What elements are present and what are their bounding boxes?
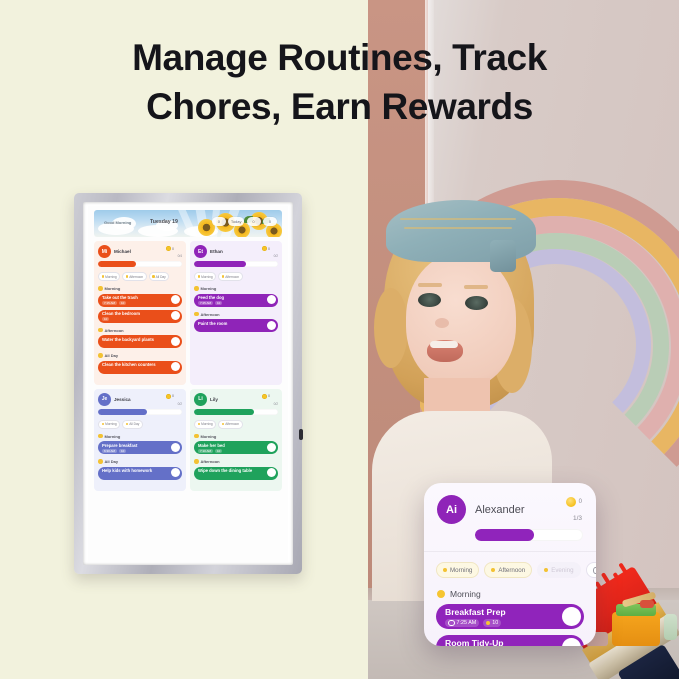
coin-balance: 0 — [566, 497, 582, 507]
task-toggle[interactable] — [171, 311, 180, 320]
task-progress-fraction: 0/2 — [178, 402, 182, 406]
filter-chip-all-day[interactable]: All Day — [122, 420, 143, 429]
filter-chip-morning[interactable]: Morning — [194, 272, 216, 281]
task-toggle[interactable] — [267, 295, 276, 304]
tablet-device: Good Morning Tuesday 19 0 Today 0 0 MiMi… — [74, 193, 302, 574]
filter-chip-afternoon[interactable]: Afternoon — [218, 420, 242, 429]
task-points: 10 — [215, 449, 222, 453]
coin-count: 0 — [268, 394, 270, 398]
filter-chip-evening[interactable]: Evening — [537, 562, 580, 578]
task-row[interactable]: Wipe down the dining table — [194, 467, 278, 480]
task-toggle[interactable] — [267, 443, 276, 452]
section-icon — [98, 459, 103, 464]
filter-chip-afternoon[interactable]: Afternoon — [484, 562, 532, 578]
chip-icon — [126, 423, 129, 426]
section-header: All Day — [98, 459, 182, 464]
task-points: 10 — [119, 449, 126, 453]
member-name: Ethan — [210, 249, 223, 254]
member-card-grid: MiMichael00/4MorningAfternoonAll DayMorn… — [94, 241, 282, 491]
avatar[interactable]: Li — [194, 393, 207, 406]
section-icon — [98, 353, 103, 358]
tablet-power-button[interactable] — [299, 429, 303, 440]
task-meta: 7:15 AM10 — [102, 301, 178, 305]
chip-icon — [222, 423, 225, 426]
filter-chip-afternoon[interactable]: Afternoon — [218, 272, 242, 281]
child-face — [406, 253, 516, 388]
task-title: Room Tidy-Up — [445, 638, 575, 646]
section-label: All Day — [105, 459, 119, 464]
chip-icon — [102, 423, 105, 426]
coin-icon — [566, 497, 576, 507]
toy-green-bottle — [664, 614, 677, 640]
member-name: Jessica — [114, 397, 131, 402]
progress-bar — [475, 529, 583, 541]
section-header-morning: Morning — [424, 578, 596, 604]
filter-chip-morning[interactable]: Morning — [194, 420, 216, 429]
section-label: Morning — [201, 434, 217, 439]
section-icon — [98, 434, 103, 439]
coin-count: 0 — [172, 394, 174, 398]
coin-icon — [262, 246, 267, 251]
task-toggle[interactable] — [267, 321, 276, 330]
banner-control-today[interactable]: Today — [228, 217, 244, 226]
task-list: Breakfast Prep7:25 AM10Room Tidy-Up10 — [424, 604, 596, 646]
chip-icon — [222, 275, 225, 278]
banner-control-0[interactable]: 0 — [212, 217, 226, 226]
task-meta: 7:10 AM10 — [198, 449, 274, 453]
section-icon — [98, 286, 103, 291]
task-title: Clean the kitchen counters — [102, 362, 178, 367]
child-eye — [418, 293, 441, 307]
member-card[interactable]: JeJessica00/2MorningAll DayMorningPrepar… — [94, 389, 186, 491]
chip-icon — [544, 568, 548, 572]
task-row[interactable]: Breakfast Prep7:25 AM10 — [436, 604, 584, 629]
toy-red-block — [640, 600, 654, 608]
section-label: Morning — [105, 286, 121, 291]
section-header: Morning — [98, 434, 182, 439]
member-name: Alexander — [475, 504, 525, 516]
task-meta: 10 — [102, 317, 178, 321]
sun-icon — [437, 590, 445, 598]
section-header: Afternoon — [194, 312, 278, 317]
section-icon — [98, 328, 103, 333]
chip-icon — [491, 568, 495, 572]
filter-chip-morning[interactable]: Morning — [436, 562, 479, 578]
filter-chip-label: Afternoon — [498, 567, 525, 574]
check-icon — [593, 567, 596, 574]
task-row[interactable]: Room Tidy-Up10 — [436, 635, 584, 646]
section-label: Morning — [201, 286, 217, 291]
child-teeth — [430, 341, 458, 348]
member-card[interactable]: EtEthan00/2MorningAfternoonMorningFeed t… — [190, 241, 282, 385]
chip-icon — [443, 568, 447, 572]
task-row[interactable]: Take out the trash7:15 AM10 — [98, 294, 182, 307]
section-header: Morning — [194, 286, 278, 291]
task-row[interactable]: Feed the dog7:25 AM10 — [194, 294, 278, 307]
banner-date: Tuesday 19 — [150, 219, 178, 225]
time-filter-chips[interactable]: MorningAll Day — [98, 420, 182, 429]
task-row[interactable]: Prepare breakfast6:30 AM10 — [98, 441, 182, 454]
section-header: Afternoon — [98, 328, 182, 333]
clock-icon — [448, 620, 455, 627]
child-headband-tab — [490, 240, 516, 272]
task-time: 7:10 AM — [198, 449, 213, 453]
task-row[interactable]: Help kids with homework — [98, 467, 182, 480]
task-points: 10 — [483, 619, 501, 627]
task-row[interactable]: Clean the kitchen counters — [98, 361, 182, 374]
time-filter-chips[interactable]: MorningAfternoonAll Day — [98, 272, 182, 281]
child-eye — [465, 296, 488, 310]
coin-balance: 0 — [262, 394, 270, 399]
member-card[interactable]: LiLily00/2MorningAfternoonMorningMake he… — [190, 389, 282, 491]
section-label: Afternoon — [105, 328, 124, 333]
progress-bar — [98, 261, 182, 267]
task-title: Prepare breakfast — [102, 443, 178, 448]
member-name: Lily — [210, 397, 218, 402]
task-title: Clean the bedroom — [102, 311, 178, 316]
coin-icon — [486, 621, 490, 625]
section-label: Afternoon — [201, 459, 220, 464]
chip-icon — [198, 423, 201, 426]
coin-count: 0 — [268, 247, 270, 251]
task-progress-fraction: 0/2 — [274, 402, 278, 406]
task-row[interactable]: Clean the bedroom10 — [98, 310, 182, 323]
task-points: 10 — [119, 301, 126, 305]
task-toggle[interactable] — [562, 607, 581, 626]
dashboard-banner: Good Morning Tuesday 19 0 Today 0 0 — [94, 210, 282, 237]
task-toggle[interactable] — [562, 638, 581, 646]
task-title: Feed the dog — [198, 295, 274, 300]
task-title: Help kids with homework — [102, 468, 178, 473]
progress-bar — [98, 409, 182, 415]
time-filter-chips[interactable]: MorningAfternoon — [194, 420, 278, 429]
section-icon — [194, 459, 199, 464]
progress-bar — [194, 409, 278, 415]
task-title: Breakfast Prep — [445, 607, 575, 618]
task-meta: 7:25 AM10 — [445, 619, 575, 627]
avatar[interactable]: Mi — [98, 245, 111, 258]
member-name: Michael — [114, 249, 131, 254]
task-meta: 7:25 AM10 — [198, 301, 274, 305]
section-header: All Day — [98, 353, 182, 358]
member-card[interactable]: MiMichael00/4MorningAfternoonAll DayMorn… — [94, 241, 186, 385]
task-title: Make her bed — [198, 443, 274, 448]
tablet-screen[interactable]: Good Morning Tuesday 19 0 Today 0 0 MiMi… — [88, 206, 288, 562]
filter-chip-afternoon[interactable]: Afternoon — [122, 272, 146, 281]
member-card-header: MiMichael00/4 — [98, 245, 182, 258]
member-card-header: JeJessica00/2 — [98, 393, 182, 406]
task-meta: 6:30 AM10 — [102, 449, 178, 453]
section-label: Afternoon — [201, 312, 220, 317]
filter-chip-label: Evening — [551, 567, 573, 574]
coin-balance: 0 — [262, 246, 270, 251]
task-toggle[interactable] — [171, 443, 180, 452]
task-title: Paint the room — [198, 321, 274, 326]
toy-tray — [612, 612, 660, 646]
section-icon — [194, 434, 199, 439]
section-label: Morning — [450, 589, 481, 599]
section-header: Morning — [194, 434, 278, 439]
banner-controls[interactable]: 0 Today 0 0 — [212, 217, 277, 226]
section-header: Morning — [98, 286, 182, 291]
member-detail-header: Ai Alexander 0 1/3 — [424, 483, 596, 551]
task-toggle[interactable] — [171, 468, 180, 477]
task-row[interactable]: Water the backyard plants — [98, 335, 182, 348]
chip-icon — [152, 275, 155, 278]
task-title: Take out the trash — [102, 295, 178, 300]
task-toggle[interactable] — [171, 362, 180, 371]
tablet-screen-bezel: Good Morning Tuesday 19 0 Today 0 0 MiMi… — [83, 202, 293, 565]
filter-chip-all-day[interactable]: All Day — [586, 562, 596, 578]
child-eyebrow — [464, 285, 488, 289]
task-toggle[interactable] — [171, 295, 180, 304]
chip-icon — [198, 275, 201, 278]
headline-line-1: Manage Routines, Track — [0, 33, 679, 82]
coin-icon — [166, 246, 171, 251]
member-detail-card[interactable]: Ai Alexander 0 1/3 MorningAfternoonEveni… — [424, 483, 596, 646]
task-time: 7:15 AM — [102, 301, 117, 305]
promo-image-stage: Manage Routines, Track Chores, Earn Rewa… — [0, 0, 679, 679]
child-hair-lock — [374, 288, 408, 368]
coin-balance: 0 — [166, 394, 174, 399]
banner-greeting: Good Morning — [104, 220, 131, 225]
task-time: 6:30 AM — [102, 449, 117, 453]
member-card-header: EtEthan00/2 — [194, 245, 278, 258]
task-row[interactable]: Make her bed7:10 AM10 — [194, 441, 278, 454]
chip-icon — [102, 275, 105, 278]
headline-line-2: Chores, Earn Rewards — [0, 82, 679, 131]
avatar[interactable]: Ai — [437, 495, 466, 524]
child-eyebrow — [418, 283, 442, 287]
banner-control-3[interactable]: 0 — [263, 217, 277, 226]
filter-chip-morning[interactable]: Morning — [98, 272, 120, 281]
task-toggle[interactable] — [171, 337, 180, 346]
progress-bar — [194, 261, 278, 267]
task-time: 7:25 AM — [445, 619, 479, 627]
section-label: Morning — [105, 434, 121, 439]
task-points: 10 — [215, 301, 222, 305]
filter-chip-all-day[interactable]: All Day — [149, 272, 170, 281]
avatar[interactable]: Et — [194, 245, 207, 258]
filter-chip-label: Morning — [450, 567, 472, 574]
time-filter-chips[interactable]: MorningAfternoonEveningAll Day — [424, 552, 596, 578]
chip-icon — [126, 275, 129, 278]
task-time: 7:25 AM — [198, 301, 213, 305]
headline: Manage Routines, Track Chores, Earn Rewa… — [0, 33, 679, 131]
task-progress-fraction: 0/4 — [178, 254, 182, 258]
coin-balance: 0 — [166, 246, 174, 251]
task-progress-fraction: 1/3 — [573, 515, 582, 522]
section-header: Afternoon — [194, 459, 278, 464]
banner-control-2[interactable]: 0 — [247, 217, 261, 226]
task-title: Wipe down the dining table — [198, 468, 274, 473]
section-icon — [194, 286, 199, 291]
time-filter-chips[interactable]: MorningAfternoon — [194, 272, 278, 281]
filter-chip-morning[interactable]: Morning — [98, 420, 120, 429]
section-label: All Day — [105, 353, 119, 358]
task-title: Water the backyard plants — [102, 337, 178, 342]
coin-count: 0 — [172, 247, 174, 251]
member-card-header: LiLily00/2 — [194, 393, 278, 406]
coin-icon — [262, 394, 267, 399]
task-row[interactable]: Paint the room — [194, 319, 278, 332]
section-icon — [194, 312, 199, 317]
coin-count: 0 — [579, 499, 582, 505]
task-toggle[interactable] — [267, 468, 276, 477]
task-points: 10 — [102, 317, 109, 321]
child-nose — [435, 318, 449, 328]
coin-icon — [166, 394, 171, 399]
avatar[interactable]: Je — [98, 393, 111, 406]
task-progress-fraction: 0/2 — [274, 254, 278, 258]
